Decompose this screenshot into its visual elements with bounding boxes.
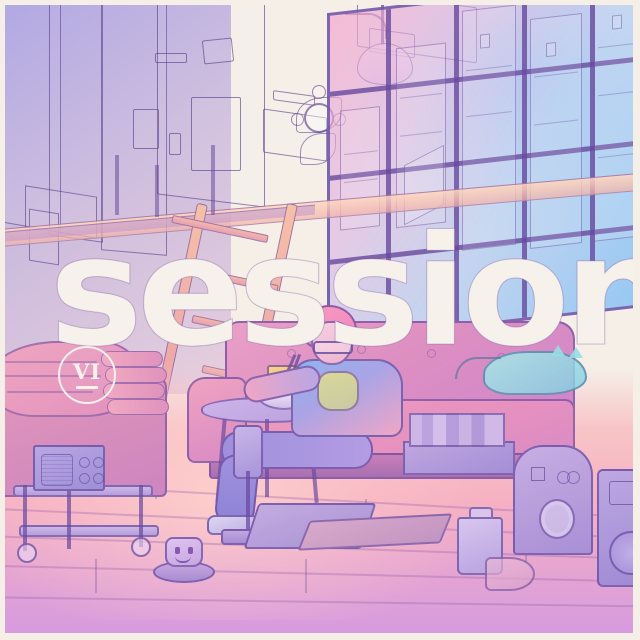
seated-person <box>291 305 423 517</box>
amp-grill <box>41 454 73 486</box>
record-stack <box>409 413 505 447</box>
floor-robot <box>153 535 215 583</box>
person-glasses <box>313 341 353 354</box>
cat-ear-right <box>569 347 583 358</box>
volume-badge: VI <box>58 346 116 404</box>
volume-numeral: VI <box>73 361 101 382</box>
radio-dial <box>539 499 575 539</box>
speaker-cone <box>609 531 633 575</box>
vertical-post-a <box>115 155 119 215</box>
factory-window <box>327 5 633 343</box>
stand-lamp-pole <box>246 471 250 535</box>
city-window-b <box>546 42 556 57</box>
city-window-a <box>480 34 490 49</box>
city-building-d <box>530 13 582 249</box>
wall-switch <box>169 133 181 155</box>
volume-badge-underline <box>76 386 98 388</box>
person-sweater-front <box>317 371 359 411</box>
robot-eye-left <box>175 547 180 554</box>
city-building-e <box>594 5 633 242</box>
album-cover: sessions VI <box>0 0 640 640</box>
illustration-canvas: sessions VI <box>5 5 633 633</box>
city-window-c <box>612 15 622 30</box>
sleeping-cat <box>483 351 587 395</box>
glass-jar <box>485 557 535 591</box>
cart-wheel <box>17 543 37 563</box>
amplifier <box>33 445 105 491</box>
radio-cabinet <box>513 445 593 555</box>
cat-ear-left <box>551 345 565 356</box>
ladder-rung <box>171 215 269 243</box>
robot-eye-right <box>188 547 193 554</box>
wall-box-b <box>202 37 234 64</box>
floor-speaker <box>597 469 633 587</box>
kettle-lid <box>469 507 493 519</box>
wall-box-a <box>155 53 187 63</box>
wall-panel-b <box>191 97 241 171</box>
wall-panel-a <box>133 109 159 149</box>
ladder-rung <box>181 265 279 293</box>
cart-wheel <box>131 537 151 557</box>
